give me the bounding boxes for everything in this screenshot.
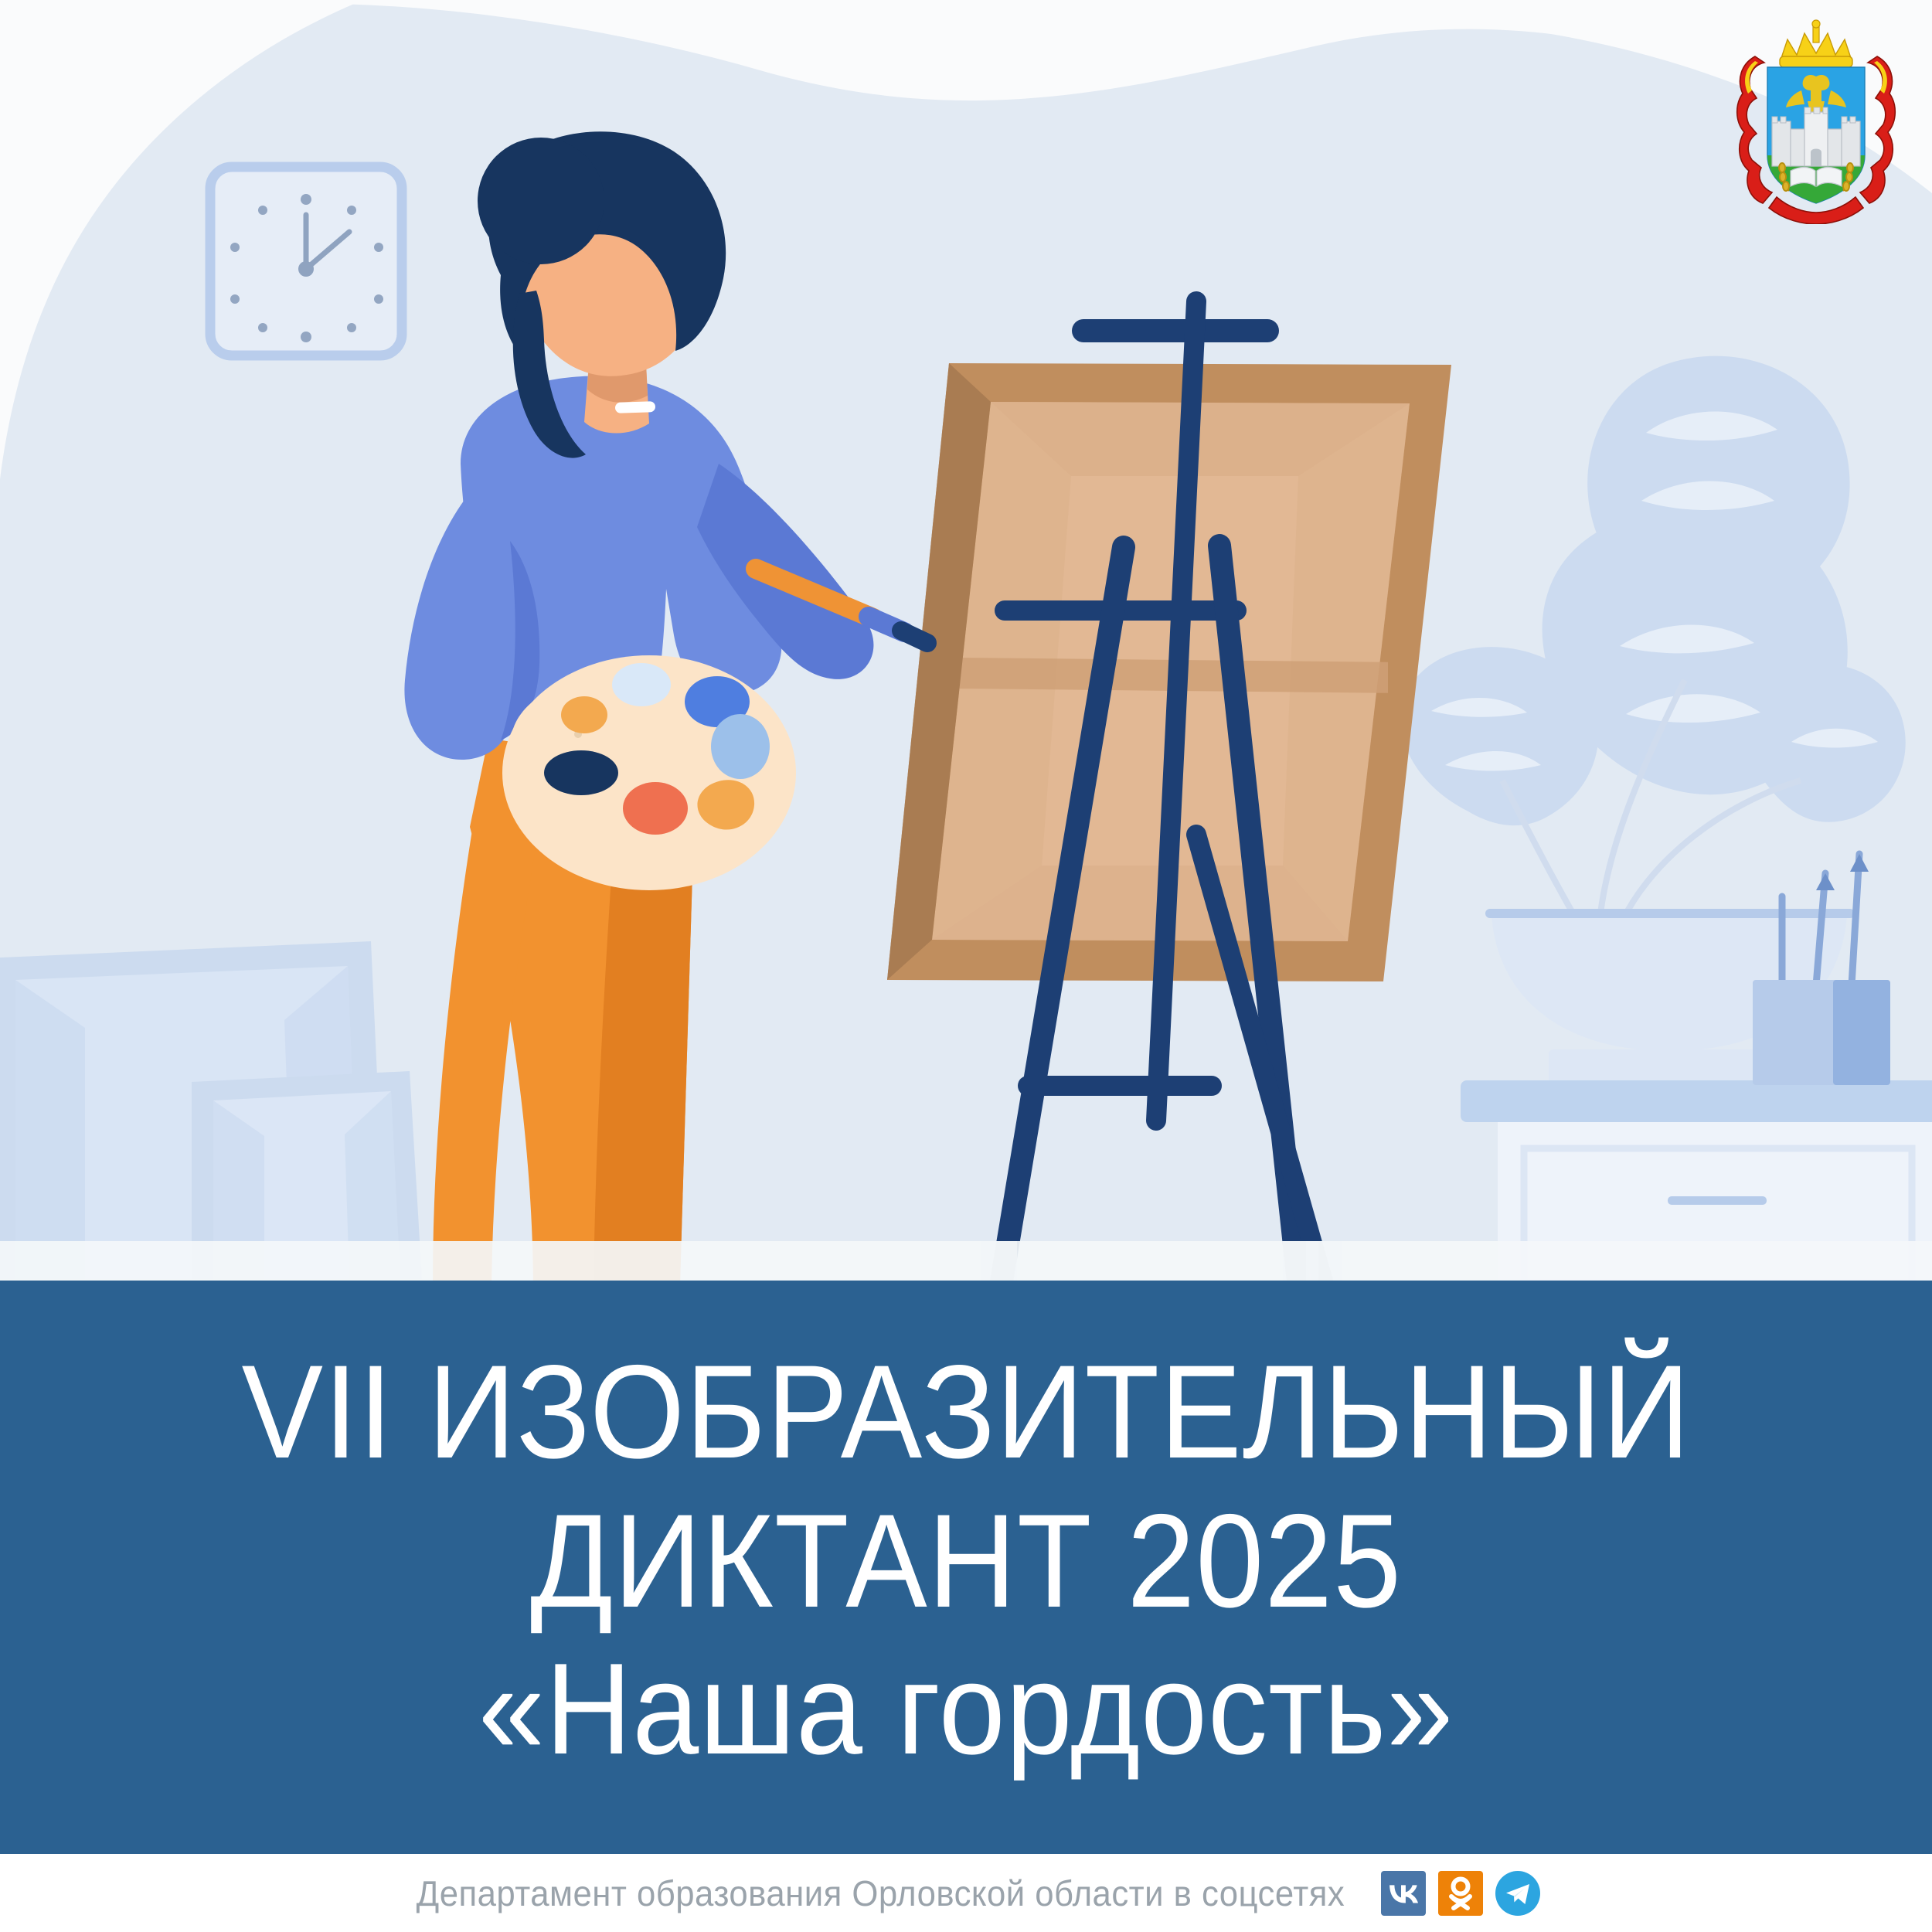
banner-title-line-1: VII ИЗОБРАЗИТЕЛЬНЫЙ: [241, 1338, 1690, 1487]
footer-text: Департамент образования Орловской област…: [416, 1872, 1345, 1914]
telegram-icon[interactable]: [1495, 1871, 1540, 1916]
odnoklassniki-icon[interactable]: [1438, 1871, 1483, 1916]
footer-bar: Департамент образования Орловской област…: [0, 1854, 1932, 1932]
vk-icon[interactable]: [1381, 1871, 1426, 1916]
mouth: [615, 401, 655, 413]
title-banner: VII ИЗОБРАЗИТЕЛЬНЫЙ ДИКТАНТ 2025 «Наша г…: [0, 1281, 1932, 1854]
banner-title-line-3: «Наша гордость»: [478, 1636, 1454, 1781]
wall-clock-group: [210, 167, 402, 355]
banner-title-line-2: ДИКТАНТ 2025: [530, 1487, 1402, 1636]
poster-root: VII ИЗОБРАЗИТЕЛЬНЫЙ ДИКТАНТ 2025 «Наша г…: [0, 0, 1932, 1932]
coat-of-arms-oryol: [1727, 19, 1905, 224]
coat-crown: [1780, 20, 1852, 67]
clock-center: [298, 261, 314, 277]
cabinet-top: [1461, 1080, 1932, 1122]
studio-illustration: [0, 0, 1932, 1283]
floor-strip: [0, 1241, 1932, 1283]
palette: [502, 655, 796, 890]
plant-pot-rim: [1485, 909, 1855, 918]
hair-bun: [478, 138, 604, 264]
cabinet-drawer-handle: [1668, 1196, 1767, 1205]
stacked-frames: [0, 941, 422, 1279]
pencil-cup-shade: [1833, 980, 1890, 1085]
